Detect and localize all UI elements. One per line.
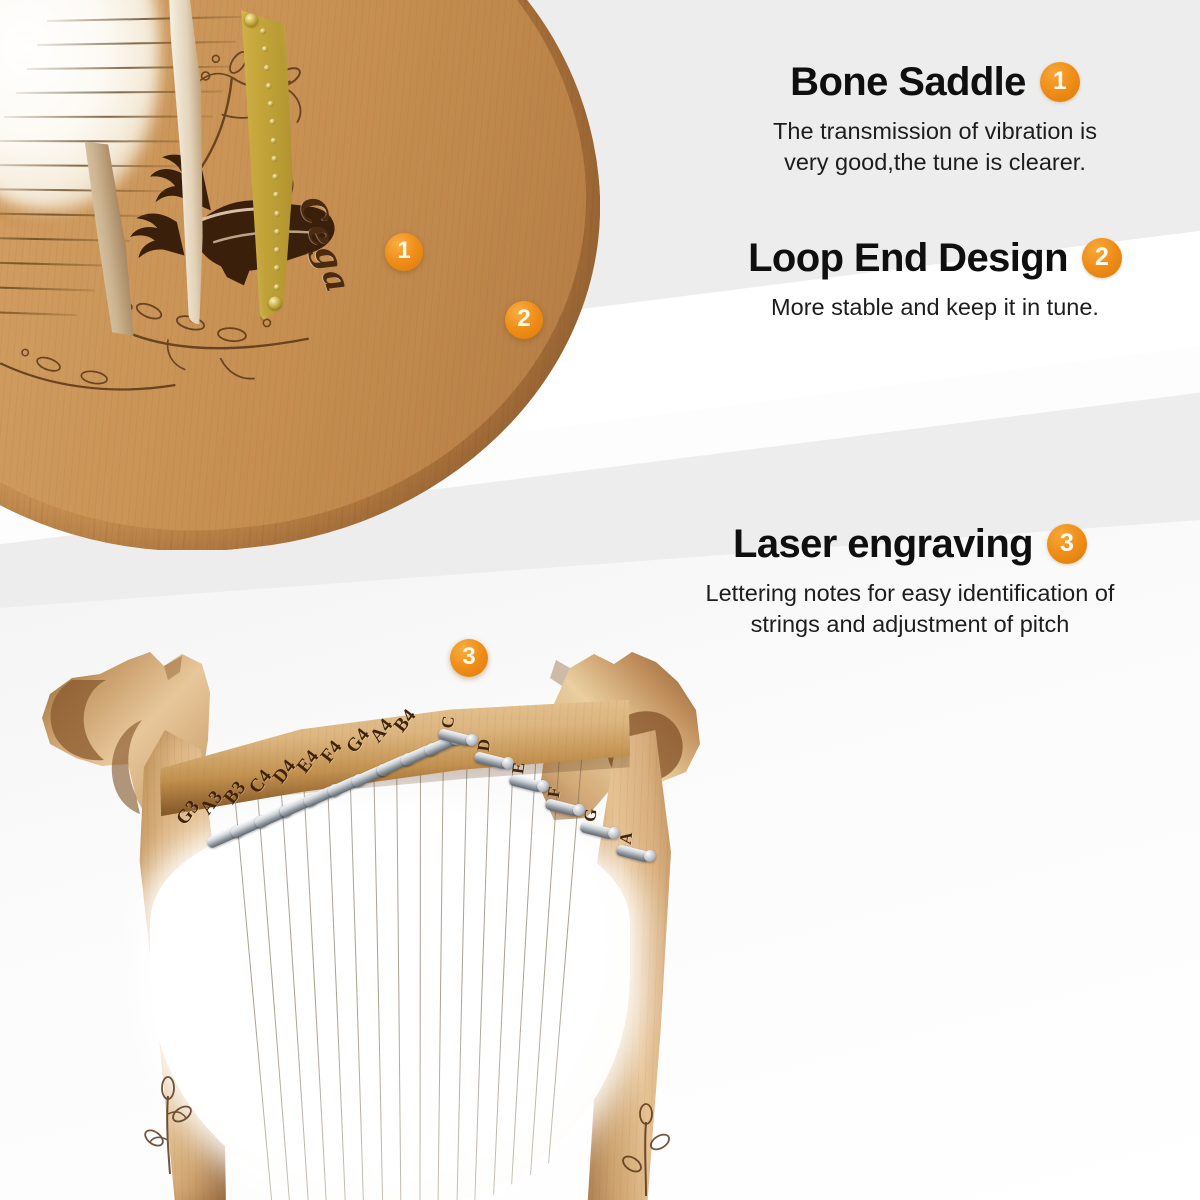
soundboard-closeup-photo: Cega <box>0 0 600 550</box>
infographic-canvas: Cega 1 2 3 <box>0 0 1200 1200</box>
feature-2-body: More stable and keep it in tune. <box>700 292 1170 323</box>
leaf-engraving-right-arm <box>610 1100 680 1200</box>
loop-end-pin <box>272 174 279 181</box>
lyre-harp-photo: G3A3B3C4D4E4F4G4A4B4 CDEFGA <box>10 620 770 1200</box>
vine-engraving-lower-left <box>0 331 185 459</box>
loop-end-pin <box>274 247 281 254</box>
note-label-F5: F <box>544 785 565 799</box>
feature-3-body: Lettering notes for easy identification … <box>650 578 1170 640</box>
loop-end-pin <box>274 210 281 217</box>
feature-block-1: Bone Saddle 1 The transmission of vibrat… <box>700 62 1170 178</box>
loop-end-pin <box>266 82 273 89</box>
note-label-A5: A <box>616 830 638 845</box>
callout-marker-2[interactable]: 2 <box>505 301 543 339</box>
feature-3-body-line1: Lettering notes for easy identification … <box>650 578 1170 609</box>
feature-block-2: Loop End Design 2 More stable and keep i… <box>700 238 1170 323</box>
loop-end-pin <box>268 101 275 108</box>
feature-3-title: Laser engraving <box>733 524 1033 564</box>
feature-3-heading: Laser engraving 3 <box>650 524 1170 564</box>
tailpiece-screw-1 <box>244 13 258 27</box>
note-label-C5: C <box>438 714 460 729</box>
loop-end-pin <box>271 155 278 162</box>
loop-end-pin <box>274 228 281 235</box>
loop-end-pin <box>274 265 281 272</box>
feature-block-3: Laser engraving 3 Lettering notes for ea… <box>650 524 1170 640</box>
loop-end-pin <box>260 28 267 35</box>
callout-marker-1[interactable]: 1 <box>385 233 423 271</box>
feature-1-body: The transmission of vibration is very go… <box>700 116 1170 178</box>
loop-end-pin <box>270 137 277 144</box>
lyre-string <box>419 745 421 1200</box>
feature-1-body-line1: The transmission of vibration is <box>700 116 1170 147</box>
feature-2-badge[interactable]: 2 <box>1082 238 1122 278</box>
feature-1-body-line2: very good,the tune is clearer. <box>700 147 1170 178</box>
feature-1-badge[interactable]: 1 <box>1040 62 1080 102</box>
feature-1-heading: Bone Saddle 1 <box>700 62 1170 102</box>
leaf-engraving-left-arm <box>138 1070 208 1180</box>
loop-end-pin <box>273 192 280 199</box>
tuning-peg-head[interactable] <box>644 850 656 862</box>
lyre-soundbox <box>150 810 630 1200</box>
feature-3-body-line2: strings and adjustment of pitch <box>650 609 1170 640</box>
note-label-G5: G <box>580 807 602 823</box>
feature-1-title: Bone Saddle <box>790 62 1026 102</box>
feature-3-badge[interactable]: 3 <box>1047 524 1087 564</box>
tailpiece-screw-2 <box>268 296 282 310</box>
loop-end-pin <box>274 284 281 291</box>
loop-end-pin <box>262 46 269 53</box>
feature-2-title: Loop End Design <box>748 238 1068 278</box>
loop-end-pin <box>264 64 271 71</box>
feature-2-body-line1: More stable and keep it in tune. <box>700 292 1170 323</box>
feature-2-heading: Loop End Design 2 <box>700 238 1170 278</box>
loop-end-pin <box>269 119 276 126</box>
